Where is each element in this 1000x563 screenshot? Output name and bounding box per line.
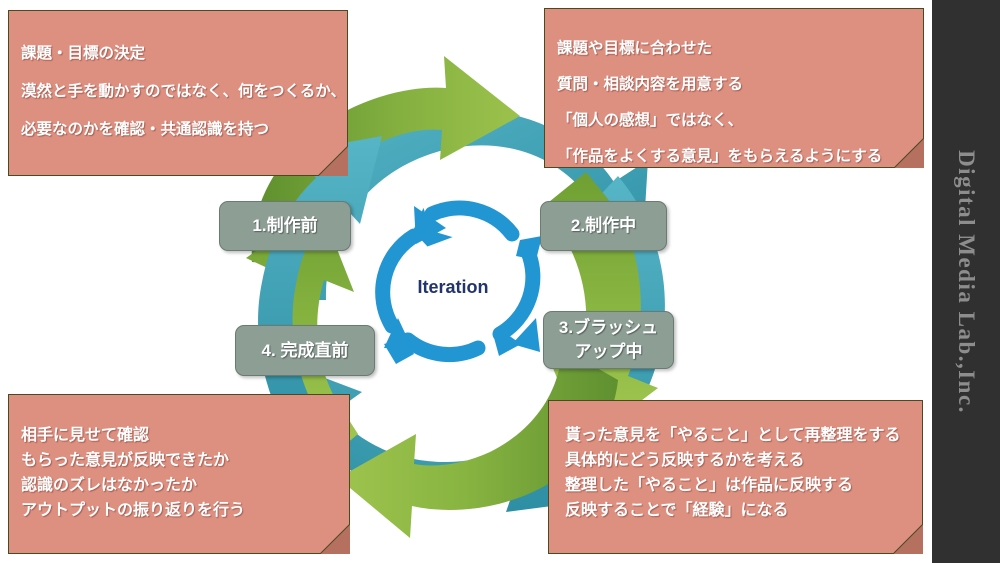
stage-4-label: 4. 完成直前 [262, 339, 349, 363]
stage-3-label-line2: アップ中 [559, 340, 658, 364]
stage-pill-3-brush-up[interactable]: 3.ブラッシュ アップ中 [543, 311, 674, 369]
arrowhead-up-icon [414, 206, 446, 244]
stage-2-label: 2.制作中 [571, 214, 636, 238]
slide-canvas: Iteration 1.制作前 2.制作中 3.ブラッシュ アップ中 4. 完成… [0, 0, 1000, 563]
stage-pill-4-just-before-completion[interactable]: 4. 完成直前 [235, 325, 375, 376]
stage-1-label: 1.制作前 [252, 214, 317, 238]
arrowhead-left-icon [384, 318, 412, 348]
arrowhead-down-icon [512, 318, 540, 352]
stage-pill-2-during-production[interactable]: 2.制作中 [540, 201, 667, 251]
iteration-label: Iteration [398, 277, 508, 298]
stage-3-label-line1: 3.ブラッシュ [559, 316, 658, 340]
stage-pill-1-before-production[interactable]: 1.制作前 [219, 201, 351, 251]
